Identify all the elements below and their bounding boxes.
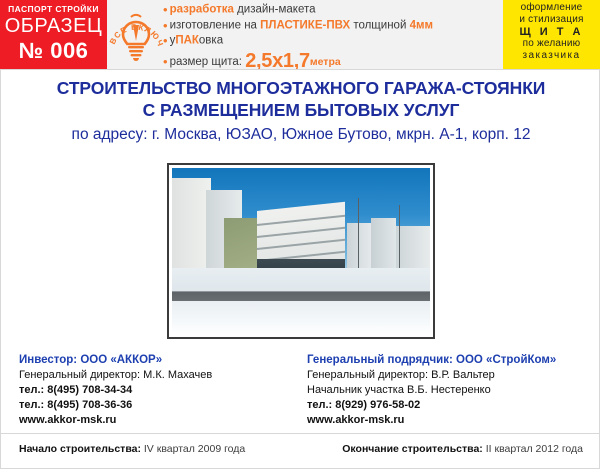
contractor-phone: тел.: 8(929) 976-58-02 bbox=[307, 398, 589, 413]
project-address: по адресу: г. Москва, ЮЗАО, Южное Бутово… bbox=[1, 123, 600, 147]
lightbulb-logo: ВСЕ ВКЛЮЧЕНО bbox=[107, 0, 165, 69]
bullet-dot-icon: • bbox=[163, 18, 168, 33]
investor-heading: Инвестор: ООО «АККОР» bbox=[19, 352, 291, 368]
sample-number-badge: ПАСПОРТ СТРОЙКИ ОБРАЗЕЦ № 006 bbox=[0, 0, 107, 69]
investor-website[interactable]: www.akkor-msk.ru bbox=[19, 413, 291, 428]
promo-bullet-design-rest: дизайн-макета bbox=[234, 4, 316, 16]
project-title-block: СТРОИТЕЛЬСТВО МНОГОЭТАЖНОГО ГАРАЖА-СТОЯН… bbox=[1, 77, 600, 147]
investor-phone-2: тел.: 8(495) 708-36-36 bbox=[19, 398, 291, 413]
promo-bullet-material-mid: толщиной bbox=[350, 19, 409, 31]
passport-kicker: ПАСПОРТ СТРОЙКИ bbox=[0, 4, 107, 15]
promo-bullet-size-pre: размер щита: bbox=[170, 56, 246, 68]
contractor-website[interactable]: www.akkor-msk.ru bbox=[307, 413, 589, 428]
promo-bullet-material-pre: изготовление на bbox=[170, 19, 261, 31]
photo-snow-foreground bbox=[172, 301, 430, 334]
bullet-dot-icon: • bbox=[163, 2, 168, 17]
construction-start-label: Начало строительства: bbox=[19, 443, 141, 455]
project-photo-frame bbox=[167, 163, 435, 339]
promo-bullet-packing-accent: ПАК bbox=[175, 35, 199, 47]
schedule-bar: Начало строительства: IV квартал 2009 го… bbox=[1, 434, 599, 468]
sample-number: № 006 bbox=[0, 38, 107, 63]
promo-bullet-material: •изготовление на ПЛАСТИКЕ-ПВХ толщиной 4… bbox=[163, 18, 501, 34]
promo-feature-list: •разработка дизайн-макета •изготовление … bbox=[163, 2, 501, 69]
banner-board: СТРОИТЕЛЬСТВО МНОГОЭТАЖНОГО ГАРАЖА-СТОЯН… bbox=[0, 69, 600, 469]
promo-board-size-unit: метра bbox=[310, 56, 341, 68]
promo-bullet-material-accent: ПЛАСТИКЕ-ПВХ bbox=[260, 19, 350, 31]
contractor-block: Генеральный подрядчик: ООО «СтройКом» Ге… bbox=[307, 352, 589, 428]
project-title-line-1: СТРОИТЕЛЬСТВО МНОГОЭТАЖНОГО ГАРАЖА-СТОЯН… bbox=[1, 77, 600, 99]
bullet-dot-icon: • bbox=[163, 33, 168, 48]
construction-end: Окончание строительства: II квартал 2012… bbox=[342, 443, 583, 455]
promo-bullet-design-accent: разработка bbox=[170, 4, 234, 16]
customization-line-2: и стилизация bbox=[503, 14, 600, 26]
construction-end-value: II квартал 2012 года bbox=[486, 443, 583, 455]
lightbulb-icon: ВСЕ ВКЛЮЧЕНО bbox=[107, 0, 165, 69]
customization-line-shield: Щ И Т А bbox=[503, 26, 600, 38]
investor-block: Инвестор: ООО «АККОР» Генеральный директ… bbox=[19, 352, 291, 428]
promo-bullet-packing-rest: овка bbox=[199, 35, 223, 47]
construction-start-value: IV квартал 2009 года bbox=[144, 443, 245, 455]
customization-line-1: оформление bbox=[503, 2, 600, 14]
project-photo bbox=[172, 168, 430, 334]
investor-director: Генеральный директор: М.К. Махачев bbox=[19, 368, 291, 383]
promo-bullet-design: •разработка дизайн-макета bbox=[163, 2, 501, 18]
construction-passport-banner: ПАСПОРТ СТРОЙКИ ОБРАЗЕЦ № 006 ВСЕ ВКЛЮЧЕ… bbox=[0, 0, 600, 469]
contractor-site-manager: Начальник участка В.Б. Нестеренко bbox=[307, 383, 589, 398]
sample-word: ОБРАЗЕЦ bbox=[0, 15, 107, 38]
construction-start: Начало строительства: IV квартал 2009 го… bbox=[19, 443, 245, 455]
customization-line-5: заказчика bbox=[503, 50, 600, 62]
promo-bullet-packing: •уПАКовка bbox=[163, 33, 501, 49]
contractor-heading: Генеральный подрядчик: ООО «СтройКом» bbox=[307, 352, 589, 368]
project-title-line-2: С РАЗМЕЩЕНИЕМ БЫТОВЫХ УСЛУГ bbox=[1, 99, 600, 121]
promo-bullet-material-thickness: 4мм bbox=[410, 19, 433, 31]
customization-line-4: по желанию bbox=[503, 38, 600, 50]
construction-end-label: Окончание строительства: bbox=[342, 443, 483, 455]
contractor-director: Генеральный директор: В.Р. Вальтер bbox=[307, 368, 589, 383]
customization-badge: оформление и стилизация Щ И Т А по желан… bbox=[503, 0, 600, 69]
promo-strip: ПАСПОРТ СТРОЙКИ ОБРАЗЕЦ № 006 ВСЕ ВКЛЮЧЕ… bbox=[0, 0, 600, 69]
investor-phone-1: тел.: 8(495) 708-34-34 bbox=[19, 383, 291, 398]
bullet-dot-icon: • bbox=[163, 54, 168, 69]
